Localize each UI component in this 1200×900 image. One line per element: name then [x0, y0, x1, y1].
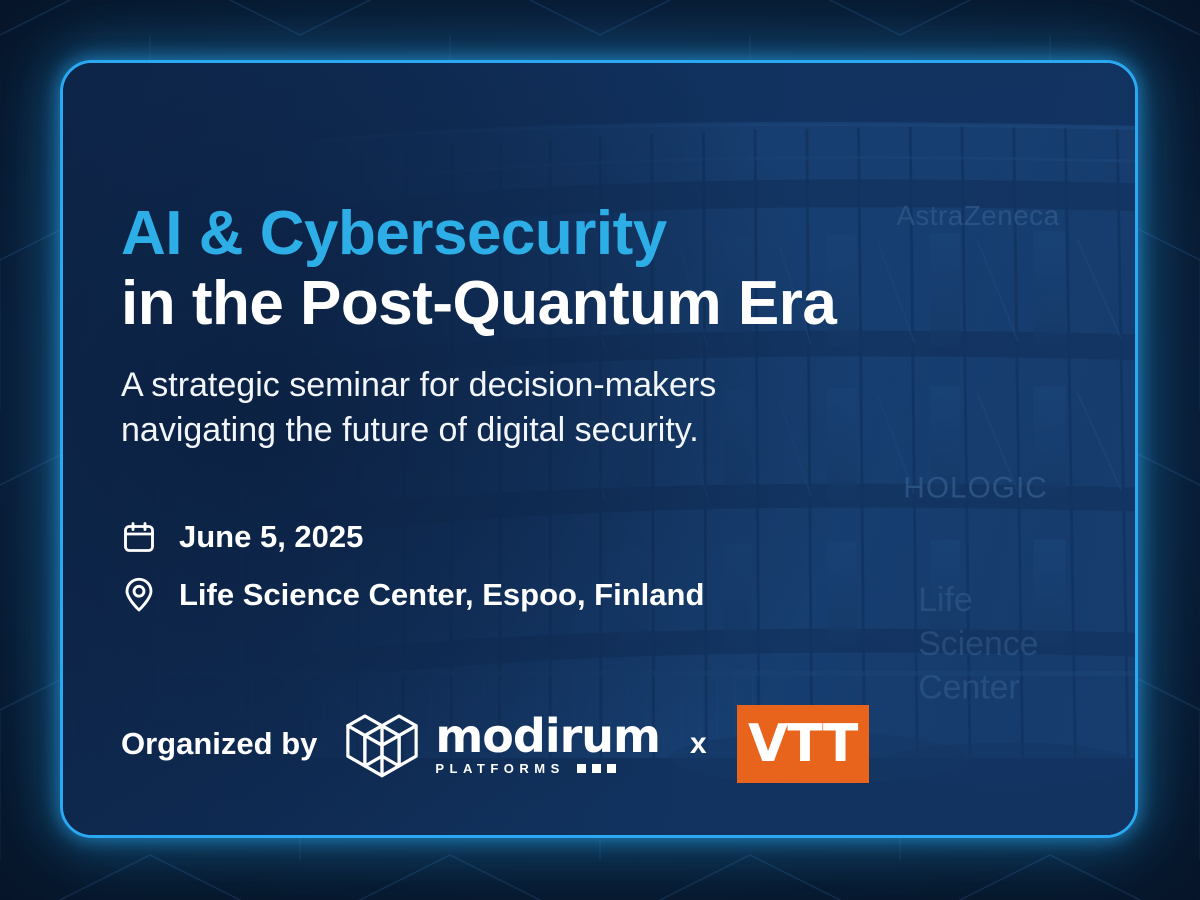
vtt-logo-text: VTT	[748, 718, 857, 770]
event-card: #0e2murky	[60, 60, 1138, 838]
square-accent	[607, 764, 616, 773]
organizers-footer: Organized by modirum	[121, 705, 869, 783]
modirum-tagline: PLATFORMS	[435, 762, 564, 775]
headline-accent-line: AI & Cybersecurity	[121, 201, 836, 267]
subtitle-block: A strategic seminar for decision-makers …	[121, 363, 716, 453]
subtitle-line-1: A strategic seminar for decision-makers	[121, 363, 716, 408]
square-accent	[592, 764, 601, 773]
location-pin-icon	[121, 577, 157, 613]
headline-block: AI & Cybersecurity in the Post-Quantum E…	[121, 201, 836, 336]
organized-by-label: Organized by	[121, 726, 317, 762]
event-location-text: Life Science Center, Espoo, Finland	[179, 577, 704, 613]
event-date-text: June 5, 2025	[179, 519, 363, 555]
modirum-logo: modirum PLATFORMS	[343, 705, 660, 783]
modirum-wordmark: modirum PLATFORMS	[435, 713, 660, 775]
modirum-name: modirum	[435, 713, 660, 759]
event-location-row: Life Science Center, Espoo, Finland	[121, 566, 704, 624]
modirum-tagline-row: PLATFORMS	[435, 762, 615, 775]
square-accent	[577, 764, 586, 773]
calendar-icon	[121, 519, 157, 555]
card-content: AI & Cybersecurity in the Post-Quantum E…	[63, 63, 1135, 835]
partner-separator: x	[690, 727, 707, 761]
subtitle-line-2: navigating the future of digital securit…	[121, 408, 716, 453]
cube-icon	[343, 705, 421, 783]
headline-main-line: in the Post-Quantum Era	[121, 271, 836, 337]
event-details: June 5, 2025 Life Science Center, Espoo,…	[121, 508, 704, 624]
vtt-logo: VTT	[737, 705, 869, 783]
event-date-row: June 5, 2025	[121, 508, 704, 566]
modirum-square-accents	[577, 764, 616, 773]
